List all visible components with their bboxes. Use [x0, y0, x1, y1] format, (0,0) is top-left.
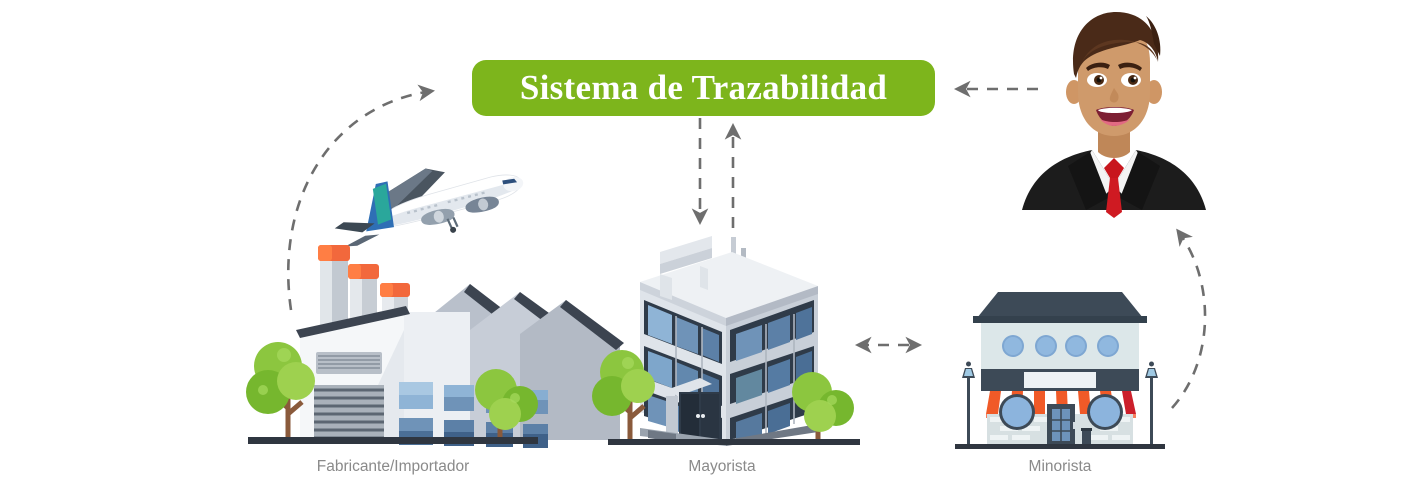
- businessman-avatar-icon: [0, 0, 1409, 487]
- traceability-diagram: Sistema de Trazabilidad Fabricante/Impor…: [0, 0, 1409, 487]
